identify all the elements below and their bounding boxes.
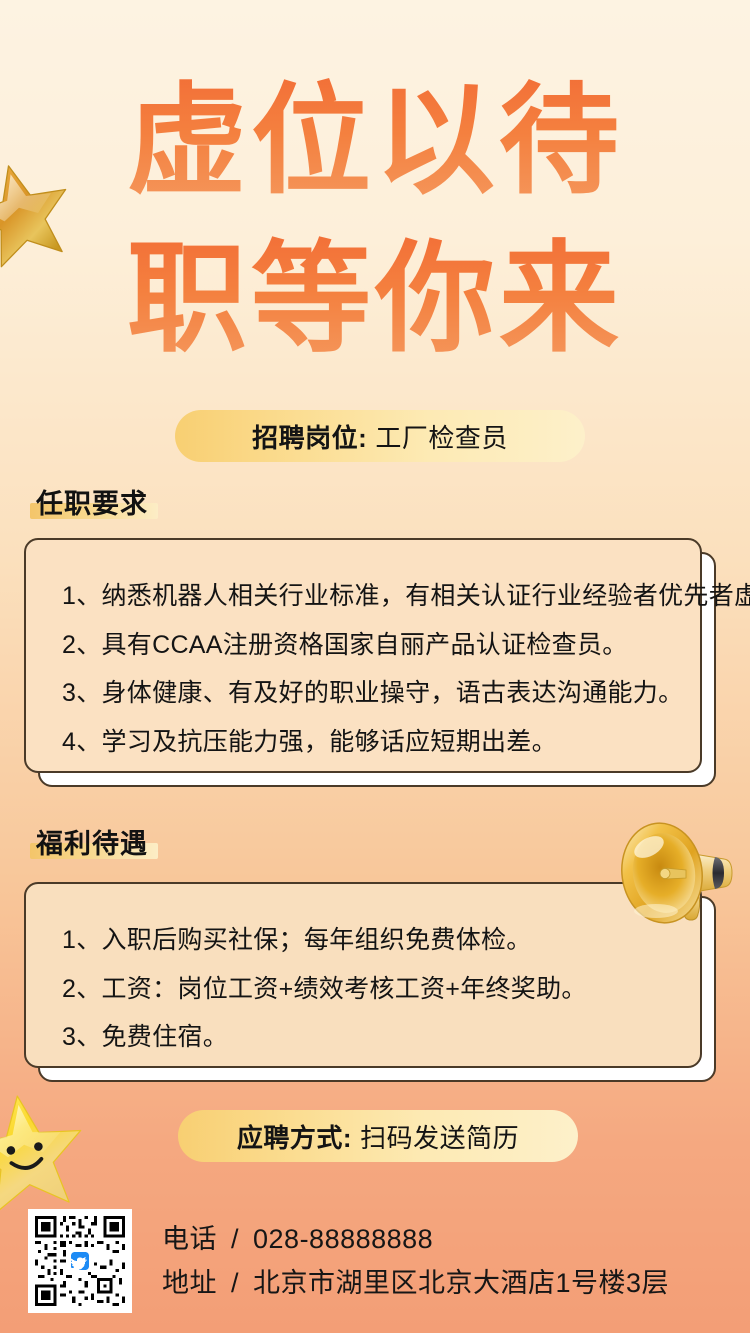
- list-item: 2、具有CCAA注册资格国家自丽产品认证检查员。: [62, 621, 670, 670]
- title-line-2: 职等你来: [0, 220, 750, 378]
- list-item: 2、工资：岗位工资+绩效考核工资+年终奖助。: [62, 965, 670, 1014]
- requirements-card: 1、纳悉机器人相关行业标准，有相关认证行业经验者优先者虚。 2、具有CCAA注册…: [24, 538, 702, 773]
- list-item: 1、纳悉机器人相关行业标准，有相关认证行业经验者优先者虚。: [62, 572, 670, 621]
- requirements-card-body: 1、纳悉机器人相关行业标准，有相关认证行业经验者优先者虚。 2、具有CCAA注册…: [24, 538, 702, 773]
- phone-value: 028-88888888: [253, 1224, 433, 1254]
- position-value: 工厂检查员: [375, 418, 508, 455]
- position-banner: 招聘岗位: 工厂检查员: [175, 410, 585, 462]
- list-item: 3、身体健康、有及好的职业操守，语古表达沟通能力。: [62, 669, 670, 718]
- apply-banner: 应聘方式: 扫码发送简历: [178, 1110, 578, 1162]
- qr-code-icon[interactable]: [28, 1209, 132, 1313]
- smiling-star-icon: [0, 1080, 96, 1222]
- benefits-card: 1、入职后购买社保；每年组织免费体检。 2、工资：岗位工资+绩效考核工资+年终奖…: [24, 882, 702, 1068]
- title-line-1: 虚位以待: [0, 62, 750, 220]
- apply-label: 应聘方式:: [237, 1118, 352, 1155]
- list-item: 1、入职后购买社保；每年组织免费体检。: [62, 916, 670, 965]
- apply-value: 扫码发送简历: [360, 1118, 519, 1155]
- phone-label: 电话: [162, 1224, 217, 1254]
- contact-info: 电话/028-88888888 地址/北京市湖里区北京大酒店1号楼3层: [162, 1218, 669, 1305]
- recruitment-poster: 虚位以待 职等你来 招聘岗位: 工厂检查员 任职要求 1、纳悉机器人相关行业标准…: [0, 0, 750, 1333]
- benefits-card-body: 1、入职后购买社保；每年组织免费体检。 2、工资：岗位工资+绩效考核工资+年终奖…: [24, 882, 702, 1068]
- poster-title: 虚位以待 职等你来: [0, 62, 750, 379]
- contact-address-row: 地址/北京市湖里区北京大酒店1号楼3层: [162, 1262, 669, 1306]
- requirements-heading-text: 任职要求: [36, 489, 148, 519]
- position-label: 招聘岗位:: [252, 418, 367, 455]
- address-separator: /: [231, 1268, 239, 1298]
- requirements-heading: 任职要求: [30, 482, 158, 521]
- address-value: 北京市湖里区北京大酒店1号楼3层: [253, 1268, 669, 1298]
- contact-phone-row: 电话/028-88888888: [162, 1218, 669, 1262]
- benefits-heading: 福利待遇: [30, 822, 158, 861]
- phone-separator: /: [231, 1224, 239, 1254]
- list-item: 3、免费住宿。: [62, 1013, 670, 1062]
- list-item: 4、学习及抗压能力强，能够话应短期出差。: [62, 718, 670, 767]
- benefits-heading-text: 福利待遇: [36, 829, 148, 859]
- address-label: 地址: [162, 1268, 217, 1298]
